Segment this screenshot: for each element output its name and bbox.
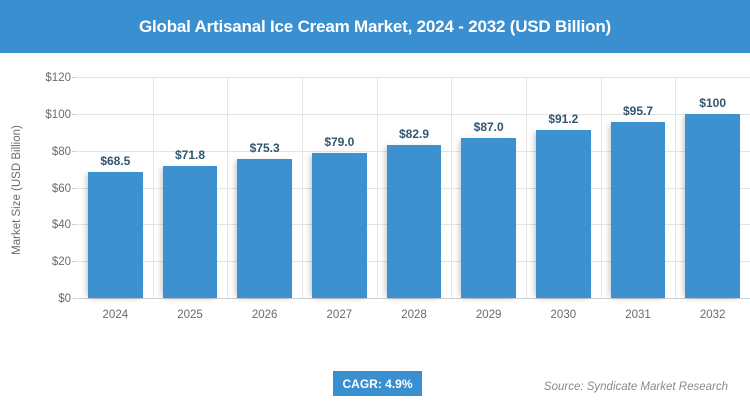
x-axis-tick-label: 2024: [78, 309, 153, 321]
bar[interactable]: [237, 159, 292, 298]
y-axis-tick-label: $60: [52, 183, 71, 195]
bar-group[interactable]: $79.02027: [302, 77, 377, 298]
bar[interactable]: [387, 145, 442, 298]
cagr-badge: CAGR: 4.9%: [333, 371, 422, 396]
x-axis-tick-label: 2030: [526, 309, 601, 321]
x-axis-tick-label: 2031: [601, 309, 676, 321]
bar-group[interactable]: $82.92028: [377, 77, 452, 298]
bar-group[interactable]: $71.82025: [153, 77, 228, 298]
x-axis-tick-label: 2029: [451, 309, 526, 321]
y-axis-tick-mark: [72, 77, 77, 78]
y-axis-tick-label: $100: [45, 109, 71, 121]
x-axis-tick-label: 2032: [675, 309, 750, 321]
y-axis-tick-mark: [72, 188, 77, 189]
bar-group[interactable]: $68.52024: [78, 77, 153, 298]
y-axis-tick-mark: [72, 151, 77, 152]
bar-value-label: $100: [675, 96, 750, 110]
bar-value-label: $68.5: [78, 154, 153, 168]
bar[interactable]: [461, 138, 516, 298]
bar-value-label: $95.7: [601, 104, 676, 118]
bar[interactable]: [685, 114, 740, 298]
chart-infographic: Global Artisanal Ice Cream Market, 2024 …: [0, 0, 750, 417]
bar-value-label: $82.9: [377, 127, 452, 141]
bar-value-label: $91.2: [526, 112, 601, 126]
bar-group[interactable]: $1002032: [675, 77, 750, 298]
bar[interactable]: [163, 166, 218, 298]
footer: CAGR: 4.9% Source: Syndicate Market Rese…: [0, 353, 750, 417]
bar[interactable]: [312, 153, 367, 298]
bars-layer: $68.52024$71.82025$75.32026$79.02027$82.…: [78, 77, 750, 298]
bar-group[interactable]: $75.32026: [227, 77, 302, 298]
page-title: Global Artisanal Ice Cream Market, 2024 …: [139, 17, 611, 37]
bar[interactable]: [88, 172, 143, 298]
x-axis-tick-label: 2025: [153, 309, 228, 321]
y-axis-tick-label: $80: [52, 146, 71, 158]
x-axis-tick-label: 2028: [377, 309, 452, 321]
y-axis-tick-mark: [72, 114, 77, 115]
y-axis-tick-mark: [72, 261, 77, 262]
bar[interactable]: [611, 122, 666, 298]
y-axis-tick-mark: [72, 298, 77, 299]
gridline: $0: [78, 298, 750, 299]
bar-value-label: $87.0: [451, 120, 526, 134]
x-axis-tick-label: 2026: [227, 309, 302, 321]
bar-group[interactable]: $91.22030: [526, 77, 601, 298]
bar[interactable]: [536, 130, 591, 298]
y-axis-tick-label: $40: [52, 219, 71, 231]
y-axis-title-text: Market Size (USD Billion): [11, 125, 23, 255]
y-axis-tick-label: $20: [52, 256, 71, 268]
header-band: Global Artisanal Ice Cream Market, 2024 …: [0, 0, 750, 53]
bar-value-label: $75.3: [227, 141, 302, 155]
y-axis-tick-label: $120: [45, 72, 71, 84]
bar-value-label: $71.8: [153, 148, 228, 162]
source-note: Source: Syndicate Market Research: [544, 381, 728, 393]
x-axis-tick-label: 2027: [302, 309, 377, 321]
chart-plot-area: Market Size (USD Billion) $0$20$40$60$80…: [0, 53, 750, 353]
y-axis-tick-label: $0: [58, 293, 71, 305]
y-axis-title: Market Size (USD Billion): [6, 75, 28, 305]
bar-group[interactable]: $87.02029: [451, 77, 526, 298]
y-axis-tick-mark: [72, 224, 77, 225]
bar-value-label: $79.0: [302, 135, 377, 149]
plot-wrapper: $0$20$40$60$80$100$120 $68.52024$71.8202…: [78, 77, 750, 298]
bar-group[interactable]: $95.72031: [601, 77, 676, 298]
